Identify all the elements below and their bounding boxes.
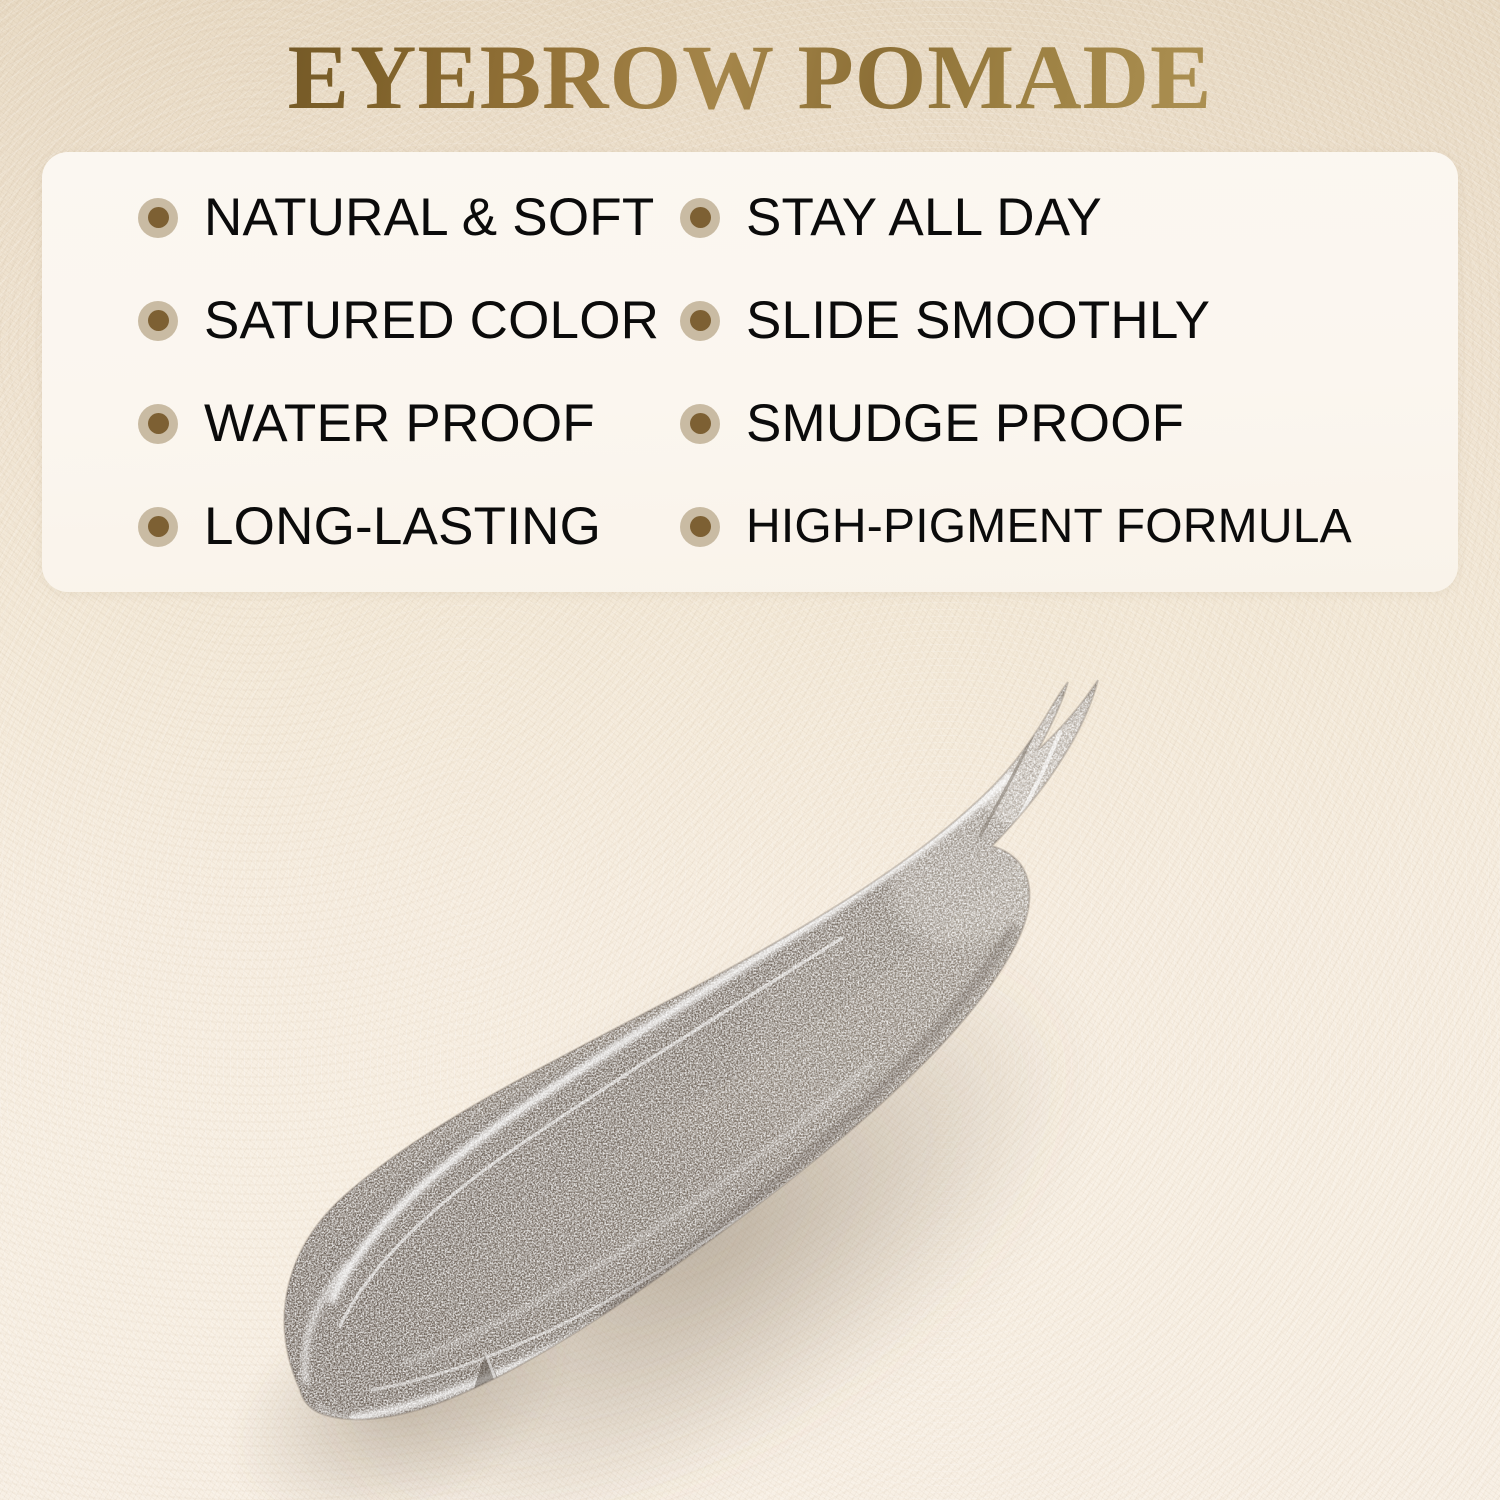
product-graphic-canvas: EYEBROW POMADE NATURAL & SOFT STAY ALL D… — [0, 0, 1500, 1500]
feature-label: SLIDE SMOOTHLY — [746, 290, 1210, 351]
feature-label: WATER PROOF — [204, 393, 595, 454]
feature-label: HIGH-PIGMENT FORMULA — [746, 499, 1352, 554]
feature-label: SATURED COLOR — [204, 290, 659, 351]
product-swatch — [0, 600, 1500, 1500]
bullet-icon — [680, 198, 720, 238]
feature-label: NATURAL & SOFT — [204, 187, 654, 248]
feature-item-smudge-proof: SMUDGE PROOF — [642, 393, 1458, 454]
bullet-icon — [138, 198, 178, 238]
bullet-icon — [680, 404, 720, 444]
bullet-icon — [138, 507, 178, 547]
feature-label: LONG-LASTING — [204, 496, 601, 557]
pomade-smear-illustration — [0, 600, 1500, 1500]
feature-item-high-pigment-formula: HIGH-PIGMENT FORMULA — [642, 499, 1458, 554]
bullet-icon — [680, 301, 720, 341]
feature-item-satured-color: SATURED COLOR — [42, 290, 642, 351]
feature-item-slide-smoothly: SLIDE SMOOTHLY — [642, 290, 1458, 351]
bullet-icon — [138, 301, 178, 341]
feature-item-natural-and-soft: NATURAL & SOFT — [42, 187, 642, 248]
feature-label: SMUDGE PROOF — [746, 393, 1184, 454]
feature-item-water-proof: WATER PROOF — [42, 393, 642, 454]
bullet-icon — [680, 507, 720, 547]
feature-item-stay-all-day: STAY ALL DAY — [642, 187, 1458, 248]
feature-label: STAY ALL DAY — [746, 187, 1102, 248]
features-grid: NATURAL & SOFT STAY ALL DAY SATURED COLO… — [42, 152, 1458, 592]
page-title: EYEBROW POMADE — [0, 28, 1500, 127]
feature-item-long-lasting: LONG-LASTING — [42, 496, 642, 557]
bullet-icon — [138, 404, 178, 444]
features-card: NATURAL & SOFT STAY ALL DAY SATURED COLO… — [42, 152, 1458, 592]
